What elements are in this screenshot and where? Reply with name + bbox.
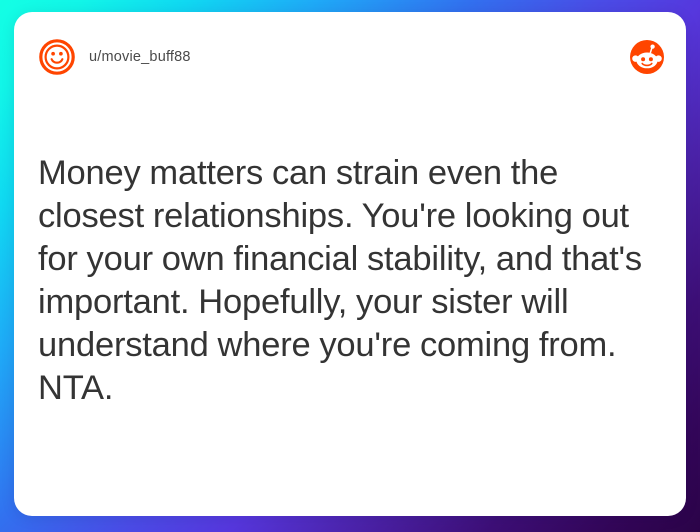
reddit-comment-screenshot: u/movie_buff88 [0,0,700,532]
reddit-snoo-logo-icon[interactable] [630,40,664,74]
comment-text: Money matters can strain even the closes… [38,152,662,410]
smiley-face-avatar-icon[interactable] [38,38,76,76]
author-block[interactable]: u/movie_buff88 [38,38,630,76]
card-header: u/movie_buff88 [14,12,686,102]
comment-card: u/movie_buff88 [14,12,686,516]
author-username: u/movie_buff88 [89,49,191,65]
